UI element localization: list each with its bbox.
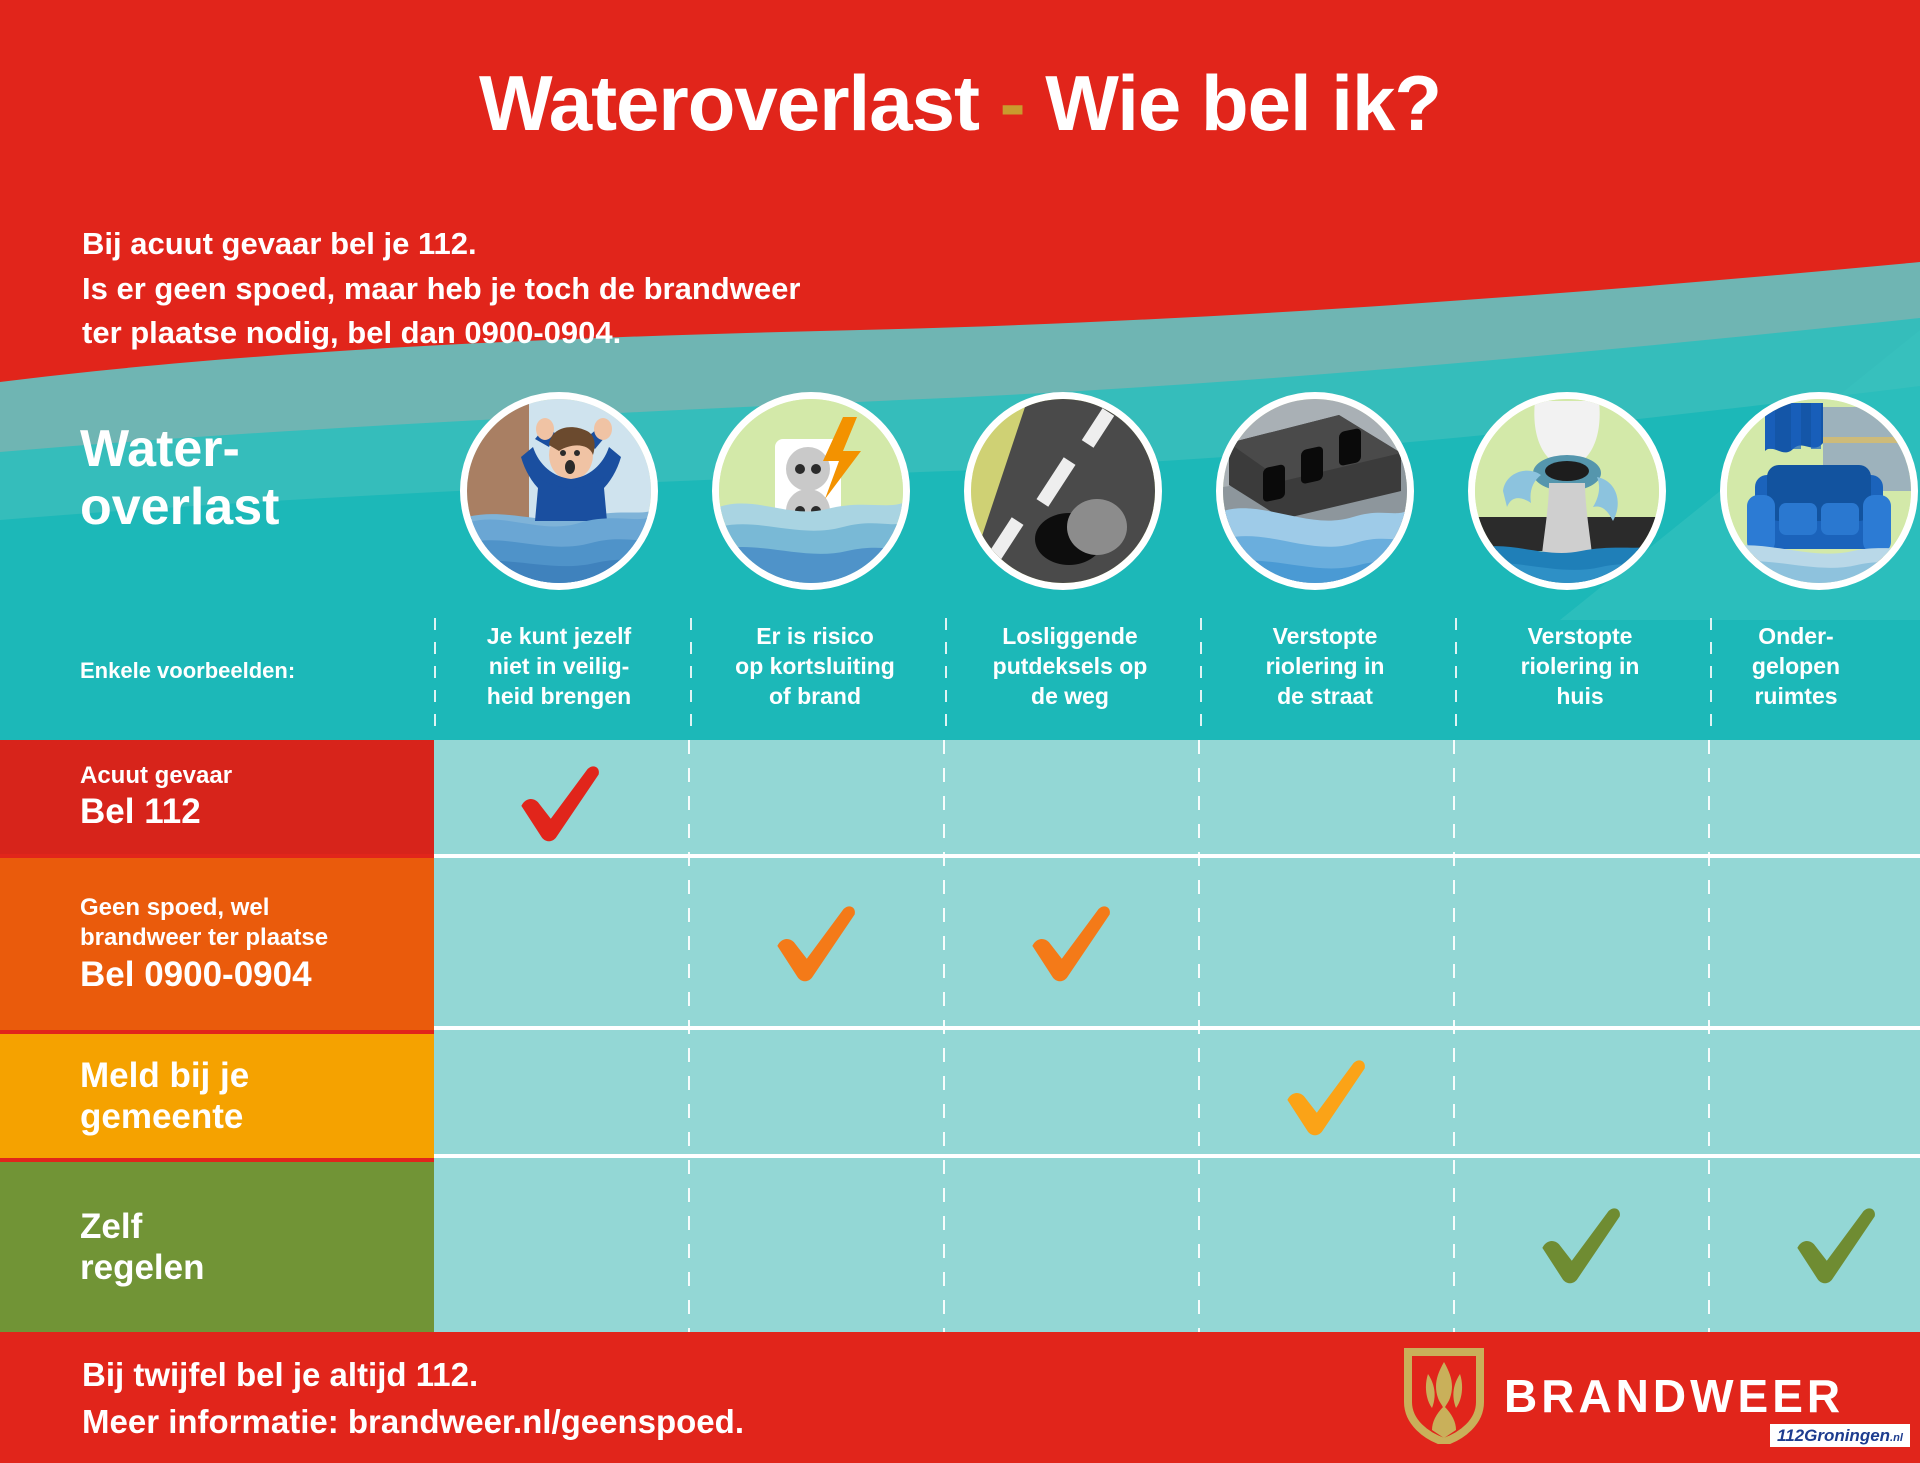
column-header-4: Verstopte riolering in de straat: [1200, 622, 1450, 712]
checkmark-geen-spoed-col-3: [1025, 898, 1117, 990]
checkmark-zelf-regelen-col-6: [1790, 1200, 1882, 1292]
column-header-3: Losliggende putdeksels op de weg: [945, 622, 1195, 712]
column-header-6-line-3: ruimtes: [1672, 682, 1920, 712]
column-header-5-line-2: riolering in: [1455, 652, 1705, 682]
row-label-zelf-regelen: Zelf regelen: [0, 1162, 434, 1332]
footer-line-2: Meer informatie: brandweer.nl/geenspoed.: [82, 1399, 744, 1446]
examples-label: Enkele voorbeelden:: [80, 658, 295, 684]
row-label-geen-spoed-line-1: Geen spoed, wel: [80, 893, 434, 923]
row-label-acuut-gevaar-small: Acuut gevaar: [80, 761, 434, 791]
topic-title-line-2: overlast: [80, 478, 279, 536]
checkmark-acuut-gevaar-col-1: [514, 758, 606, 850]
flooded-room-sofa-icon: [1727, 399, 1911, 583]
column-header-1: Je kunt jezelf niet in veilig- heid bren…: [434, 622, 684, 712]
column-header-6-line-1: Onder-: [1672, 622, 1920, 652]
checkmark-zelf-regelen-col-5: [1535, 1200, 1627, 1292]
column-header-4-line-1: Verstopte: [1200, 622, 1450, 652]
grid-divider-2: [943, 740, 945, 1332]
row-label-geen-spoed-line-2: brandweer ter plaatse: [80, 923, 434, 953]
column-header-1-line-3: heid brengen: [434, 682, 684, 712]
footer-line-1: Bij twijfel bel je altijd 112.: [82, 1352, 744, 1399]
row-label-acuut-gevaar: Acuut gevaar Bel 112: [0, 740, 434, 854]
column-header-2-line-2: op kortsluiting: [690, 652, 940, 682]
row-label-geen-spoed-big: Bel 0900-0904: [80, 954, 434, 995]
topic-title-line-1: Water-: [80, 420, 279, 478]
brandweer-flame-shield-icon: [1402, 1348, 1486, 1444]
column-header-5-line-1: Verstopte: [1455, 622, 1705, 652]
column-header-6-line-2: gelopen: [1672, 652, 1920, 682]
column-header-3-line-2: putdeksels op: [945, 652, 1195, 682]
column-header-5: Verstopte riolering in huis: [1455, 622, 1705, 712]
grid-divider-1: [688, 740, 690, 1332]
column-icon-manhole-cover: [964, 392, 1162, 590]
column-icon-street-sewer: [1216, 392, 1414, 590]
electrical-socket-lightning-icon: [719, 399, 903, 583]
column-icon-electrical-socket: [712, 392, 910, 590]
column-icon-overflowing-toilet: [1468, 392, 1666, 590]
brandweer-wordmark: BRANDWEER: [1504, 1369, 1844, 1423]
column-header-4-line-2: riolering in: [1200, 652, 1450, 682]
watermark-112groningen: 112Groningen.nl: [1770, 1424, 1910, 1447]
column-header-2-line-3: of brand: [690, 682, 940, 712]
column-icon-drowning-person: [460, 392, 658, 590]
row-separator-3: [434, 1154, 1920, 1158]
column-header-3-line-1: Losliggende: [945, 622, 1195, 652]
column-header-1-line-2: niet in veilig-: [434, 652, 684, 682]
row-label-acuut-gevaar-big: Bel 112: [80, 791, 434, 832]
page-title: Wateroverlast - Wie bel ik?: [0, 58, 1920, 149]
row-separator-2: [434, 1026, 1920, 1030]
intro-line-3: ter plaatse nodig, bel dan 0900-0904.: [82, 311, 800, 356]
column-header-2: Er is risico op kortsluiting of brand: [690, 622, 940, 712]
row-label-meld-gemeente-line-1: Meld bij je: [80, 1055, 434, 1096]
grid-divider-5: [1708, 740, 1710, 1332]
blocked-street-sewer-icon: [1223, 399, 1407, 583]
intro-line-2: Is er geen spoed, maar heb je toch de br…: [82, 267, 800, 312]
loose-manhole-cover-icon: [971, 399, 1155, 583]
watermark-main: 112Groningen: [1777, 1426, 1890, 1445]
drowning-person-icon: [467, 399, 651, 583]
row-label-meld-gemeente: Meld bij je gemeente: [0, 1034, 434, 1158]
title-dash: -: [1000, 59, 1025, 147]
footer-text: Bij twijfel bel je altijd 112. Meer info…: [82, 1352, 744, 1446]
topic-title: Water- overlast: [80, 420, 279, 536]
infographic-poster: Wateroverlast - Wie bel ik? Bij acuut ge…: [0, 0, 1920, 1463]
overflowing-toilet-icon: [1475, 399, 1659, 583]
column-header-3-line-3: de weg: [945, 682, 1195, 712]
grid-divider-3: [1198, 740, 1200, 1332]
grid-divider-4: [1453, 740, 1455, 1332]
title-sub: Wie bel ik?: [1045, 59, 1441, 147]
title-main: Wateroverlast: [479, 59, 979, 147]
column-header-1-line-1: Je kunt jezelf: [434, 622, 684, 652]
column-header-4-line-3: de straat: [1200, 682, 1450, 712]
column-header-5-line-3: huis: [1455, 682, 1705, 712]
row-label-meld-gemeente-line-2: gemeente: [80, 1096, 434, 1137]
row-label-zelf-regelen-line-1: Zelf: [80, 1206, 434, 1247]
intro-text: Bij acuut gevaar bel je 112. Is er geen …: [82, 222, 800, 356]
column-header-2-line-1: Er is risico: [690, 622, 940, 652]
row-label-zelf-regelen-line-2: regelen: [80, 1247, 434, 1288]
watermark-tld: .nl: [1890, 1432, 1903, 1444]
column-header-6: Onder- gelopen ruimtes: [1672, 622, 1920, 712]
row-label-geen-spoed: Geen spoed, wel brandweer ter plaatse Be…: [0, 858, 434, 1030]
checkmark-geen-spoed-col-2: [770, 898, 862, 990]
row-separator-1: [434, 854, 1920, 858]
checkmark-meld-gemeente-col-4: [1280, 1052, 1372, 1144]
column-icon-flooded-room: [1720, 392, 1918, 590]
intro-line-1: Bij acuut gevaar bel je 112.: [82, 222, 800, 267]
matrix-grid: [434, 740, 1920, 1332]
